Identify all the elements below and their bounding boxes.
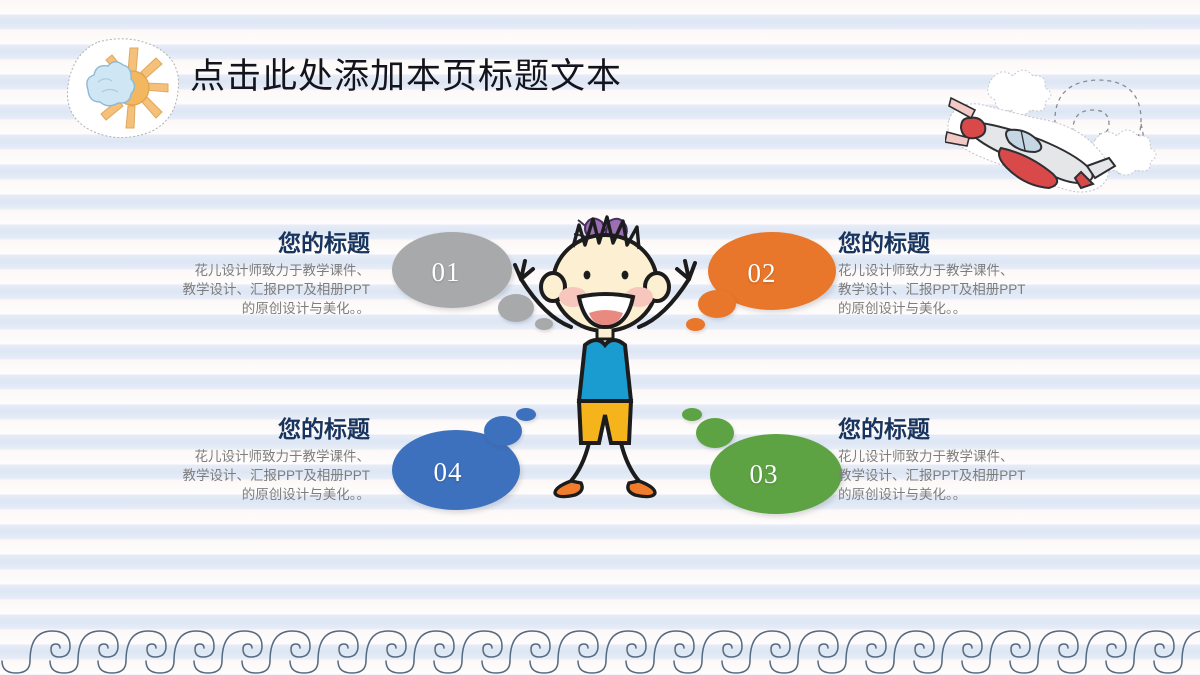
text-line: 的原创设计与美化。。 xyxy=(110,485,370,504)
text-line: 花儿设计师致力于教学课件、 xyxy=(110,261,370,280)
bubble-03-tail-small xyxy=(682,408,702,421)
text-line: 教学设计、汇报PPT及相册PPT xyxy=(838,280,1098,299)
text-block-01: 您的标题 花儿设计师致力于教学课件、 教学设计、汇报PPT及相册PPT 的原创设… xyxy=(110,228,370,318)
bubble-04-tail-large xyxy=(484,416,522,446)
bubble-02-number: 02 xyxy=(748,258,777,289)
bubble-01-body[interactable]: 01 xyxy=(392,232,512,308)
bubble-02[interactable]: 02 xyxy=(660,232,840,342)
text-block-03-body: 花儿设计师致力于教学课件、 教学设计、汇报PPT及相册PPT 的原创设计与美化。… xyxy=(838,447,1098,504)
text-line: 的原创设计与美化。。 xyxy=(838,299,1098,318)
bubble-02-tail-large xyxy=(698,290,736,318)
text-block-04-body: 花儿设计师致力于教学课件、 教学设计、汇报PPT及相册PPT 的原创设计与美化。… xyxy=(110,447,370,504)
text-block-02-heading: 您的标题 xyxy=(838,228,1098,258)
page-title: 点击此处添加本页标题文本 xyxy=(190,54,622,100)
text-block-04-heading: 您的标题 xyxy=(110,414,370,444)
bubble-03[interactable]: 03 xyxy=(662,408,842,518)
airplane-icon xyxy=(945,62,1200,202)
text-line: 教学设计、汇报PPT及相册PPT xyxy=(838,466,1098,485)
text-block-03-heading: 您的标题 xyxy=(838,414,1098,444)
text-line: 教学设计、汇报PPT及相册PPT xyxy=(110,280,370,299)
bubble-04-number: 04 xyxy=(434,457,463,488)
bubble-03-tail-large xyxy=(696,418,734,448)
bubble-01-number: 01 xyxy=(432,257,461,288)
text-block-01-heading: 您的标题 xyxy=(110,228,370,258)
bubble-04[interactable]: 04 xyxy=(392,408,572,518)
bubble-03-number: 03 xyxy=(750,459,779,490)
text-block-01-body: 花儿设计师致力于教学课件、 教学设计、汇报PPT及相册PPT 的原创设计与美化。… xyxy=(110,261,370,318)
text-line: 的原创设计与美化。。 xyxy=(110,299,370,318)
bubble-01-tail-small xyxy=(535,318,553,330)
bubble-02-tail-small xyxy=(686,318,705,331)
text-line: 的原创设计与美化。。 xyxy=(838,485,1098,504)
sun-cloud-icon xyxy=(58,34,186,144)
text-line: 教学设计、汇报PPT及相册PPT xyxy=(110,466,370,485)
spiral-wave-border xyxy=(0,615,1200,675)
bubble-01-tail-large xyxy=(498,294,534,322)
text-block-02-body: 花儿设计师致力于教学课件、 教学设计、汇报PPT及相册PPT 的原创设计与美化。… xyxy=(838,261,1098,318)
text-line: 花儿设计师致力于教学课件、 xyxy=(838,261,1098,280)
bubble-03-body[interactable]: 03 xyxy=(710,434,842,514)
text-block-04: 您的标题 花儿设计师致力于教学课件、 教学设计、汇报PPT及相册PPT 的原创设… xyxy=(110,414,370,504)
text-line: 花儿设计师致力于教学课件、 xyxy=(838,447,1098,466)
text-line: 花儿设计师致力于教学课件、 xyxy=(110,447,370,466)
text-block-03: 您的标题 花儿设计师致力于教学课件、 教学设计、汇报PPT及相册PPT 的原创设… xyxy=(838,414,1098,504)
text-block-02: 您的标题 花儿设计师致力于教学课件、 教学设计、汇报PPT及相册PPT 的原创设… xyxy=(838,228,1098,318)
bubble-04-tail-small xyxy=(516,408,536,421)
slide-canvas: 点击此处添加本页标题文本 xyxy=(0,0,1200,675)
bubble-01[interactable]: 01 xyxy=(392,232,572,342)
